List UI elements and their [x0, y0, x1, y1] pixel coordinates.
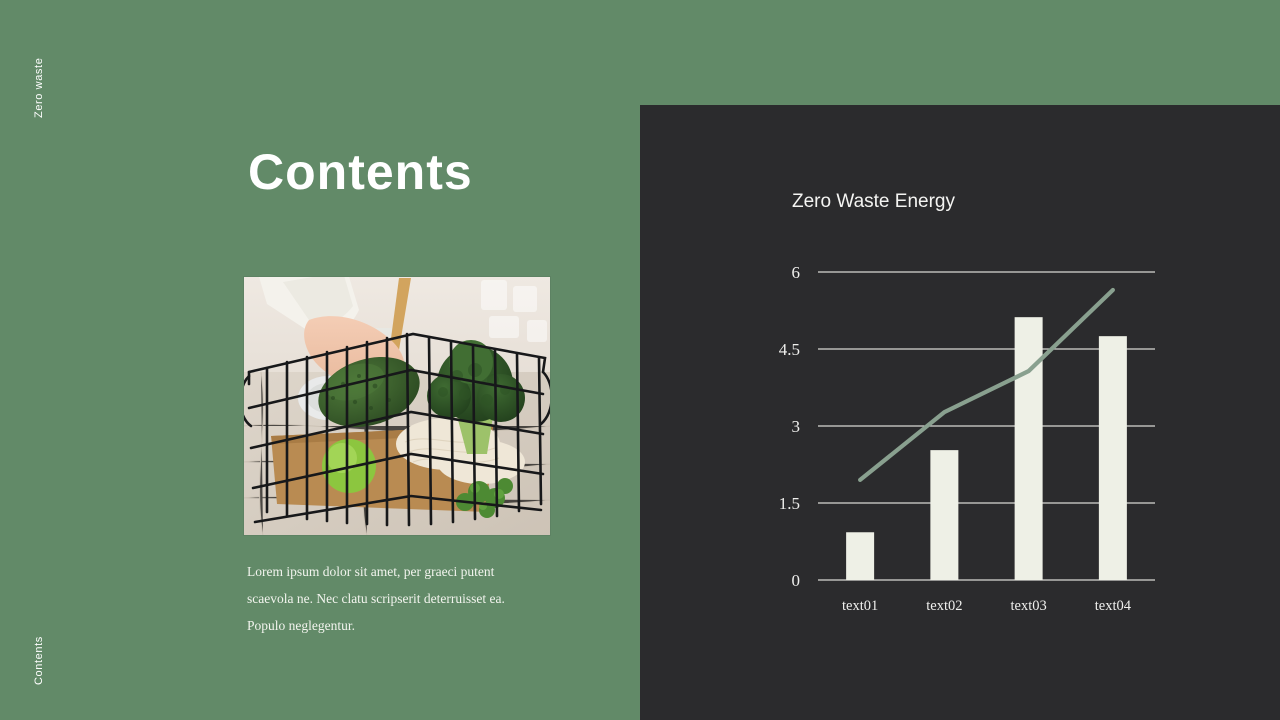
- chart-x-axis-labels: text01text02text03text04: [842, 598, 1132, 614]
- x-axis-tick: text01: [842, 598, 878, 614]
- chart-bar: [1099, 336, 1127, 580]
- x-axis-tick: text03: [1011, 598, 1047, 614]
- x-axis-tick: text02: [926, 598, 962, 614]
- rail-label-top: Zero waste: [33, 38, 45, 118]
- content-photo: [243, 276, 551, 536]
- y-axis-tick: 1.5: [779, 494, 800, 513]
- photo-illustration: [243, 276, 551, 536]
- chart-trend-line: [860, 290, 1113, 480]
- y-axis-tick: 4.5: [779, 340, 800, 359]
- y-axis-tick: 3: [792, 417, 801, 436]
- y-axis-tick: 0: [792, 571, 801, 590]
- chart-bar: [1015, 317, 1043, 580]
- presentation-slide: Zero waste Contents Contents: [0, 0, 1280, 720]
- rail-label-bottom: Contents: [33, 610, 45, 685]
- x-axis-tick: text04: [1095, 598, 1132, 614]
- page-title: Contents: [248, 145, 473, 200]
- y-axis-tick: 6: [792, 263, 801, 282]
- body-copy: Lorem ipsum dolor sit amet, per graeci p…: [247, 558, 527, 639]
- combo-chart: 01.534.56 text01text02text03text04: [640, 105, 1280, 720]
- chart-panel: Zero Waste Energy 01.534.56 text01text02…: [640, 105, 1280, 720]
- chart-bar: [846, 532, 874, 580]
- chart-y-axis-labels: 01.534.56: [779, 263, 800, 590]
- chart-bars: [846, 317, 1127, 580]
- chart-bar: [930, 450, 958, 580]
